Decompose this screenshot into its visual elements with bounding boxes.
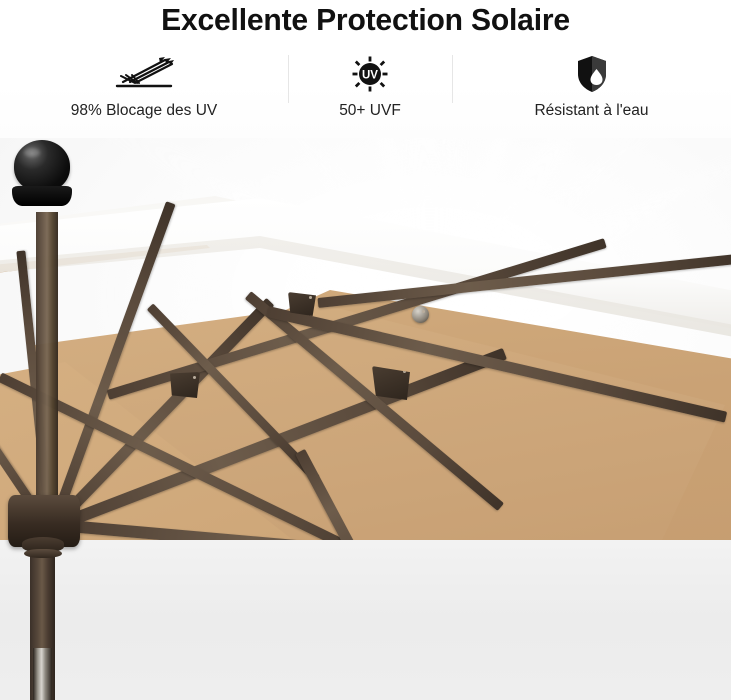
- product-feature-image: Excellente Protection Solaire: [0, 0, 731, 700]
- umbrella-crank-mechanism: [33, 648, 52, 700]
- uv-sun-badge-icon: UV: [352, 54, 388, 94]
- umbrella-pole-upper: [36, 212, 58, 512]
- feature-divider-2: [452, 55, 453, 103]
- umbrella-finial-base: [12, 186, 72, 206]
- svg-text:UV: UV: [362, 69, 378, 81]
- canopy-bracket-knob: [412, 306, 429, 323]
- umbrella-finial-highlight: [24, 148, 40, 157]
- feature-label-uv-blocking: 98% Blocage des UV: [71, 101, 217, 121]
- canopy-bracket-upper: [288, 292, 316, 316]
- feature-divider-1: [288, 55, 289, 103]
- feature-banner: Excellente Protection Solaire: [0, 0, 731, 138]
- feature-item-uvf-rating: UV 50+ UVF: [288, 52, 452, 121]
- umbrella-hub-ring: [24, 549, 62, 558]
- uv-rays-deflection-icon: [113, 54, 175, 94]
- feature-item-water-resistant: Résistant à l'eau: [452, 52, 731, 121]
- feature-item-uv-blocking: 98% Blocage des UV: [0, 52, 288, 121]
- photo-lower-background: [0, 540, 731, 700]
- umbrella-finial-ball: [14, 140, 70, 192]
- feature-label-water-resistant: Résistant à l'eau: [534, 101, 648, 121]
- water-resistant-shield-icon: [576, 54, 608, 94]
- canopy-bracket-left: [170, 372, 200, 398]
- feature-label-uvf-rating: 50+ UVF: [339, 101, 401, 121]
- feature-list: 98% Blocage des UV: [0, 52, 731, 132]
- page-title: Excellente Protection Solaire: [11, 0, 720, 40]
